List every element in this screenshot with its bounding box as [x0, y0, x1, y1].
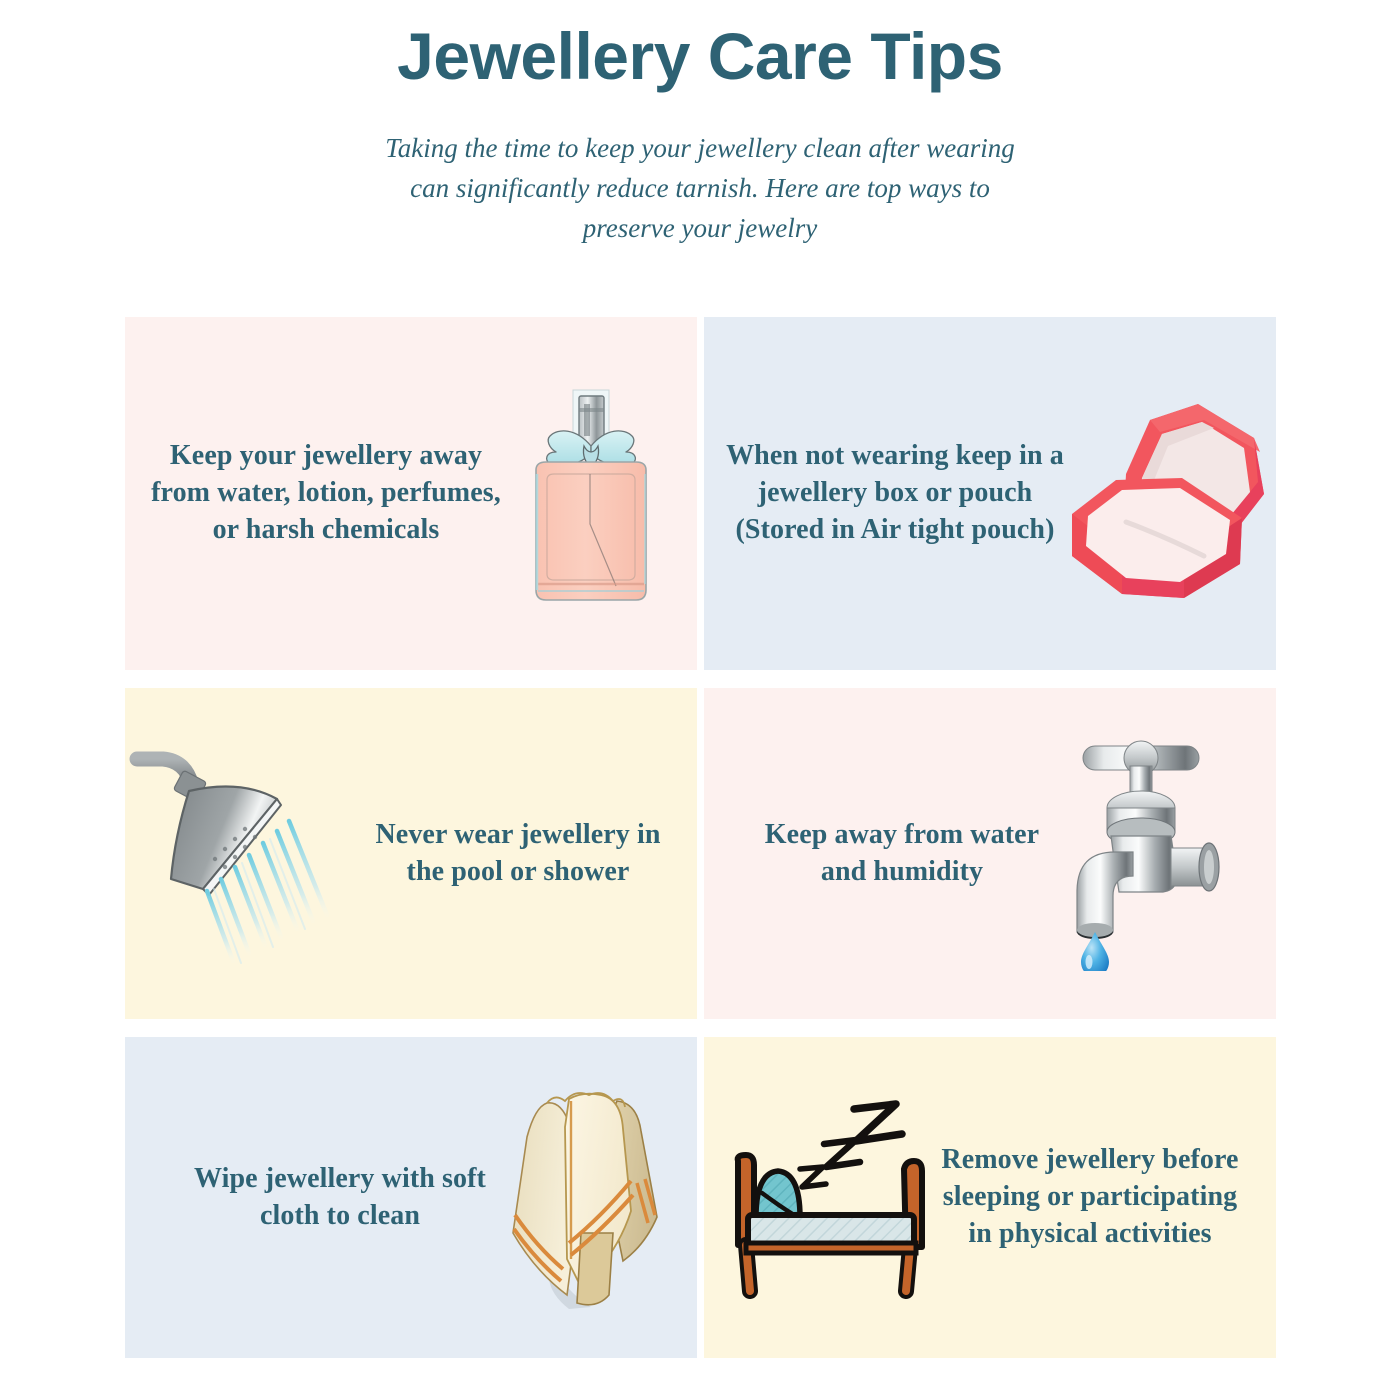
tip-card-6-text: Remove jewellery before sleeping or part…: [940, 1142, 1240, 1253]
tip-card-2-text: When not wearing keep in a jewellery box…: [726, 438, 1064, 549]
ring-box-icon: [1064, 386, 1276, 601]
faucet-drip-icon: [1052, 736, 1276, 971]
page-title: Jewellery Care Tips: [0, 22, 1400, 91]
tip-card-1-text: Keep your jewellery away from water, lot…: [147, 438, 505, 549]
polishing-cloth-icon: [505, 1083, 697, 1313]
tip-card-6: Remove jewellery before sleeping or part…: [704, 1037, 1276, 1358]
tip-card-5: Wipe jewellery with soft cloth to clean: [125, 1037, 697, 1358]
tip-card-2: When not wearing keep in a jewellery box…: [704, 317, 1276, 670]
bed-sleep-icon: [704, 1095, 940, 1300]
infographic-page: Jewellery Care Tips Taking the time to k…: [0, 0, 1400, 1400]
tip-card-4-text: Keep away from water and humidity: [752, 817, 1052, 891]
shower-head-icon: [125, 739, 359, 969]
tip-card-3-text: Never wear jewellery in the pool or show…: [359, 817, 677, 891]
tip-card-5-text: Wipe jewellery with soft cloth to clean: [175, 1161, 505, 1235]
page-header: Jewellery Care Tips Taking the time to k…: [0, 0, 1400, 248]
tip-card-1: Keep your jewellery away from water, lot…: [125, 317, 697, 670]
tips-grid: Keep your jewellery away from water, lot…: [125, 317, 1276, 1358]
perfume-bottle-icon: [505, 374, 697, 614]
tip-card-4: Keep away from water and humidity: [704, 688, 1276, 1019]
tip-card-3: Never wear jewellery in the pool or show…: [125, 688, 697, 1019]
page-subtitle: Taking the time to keep your jewellery c…: [385, 129, 1015, 248]
